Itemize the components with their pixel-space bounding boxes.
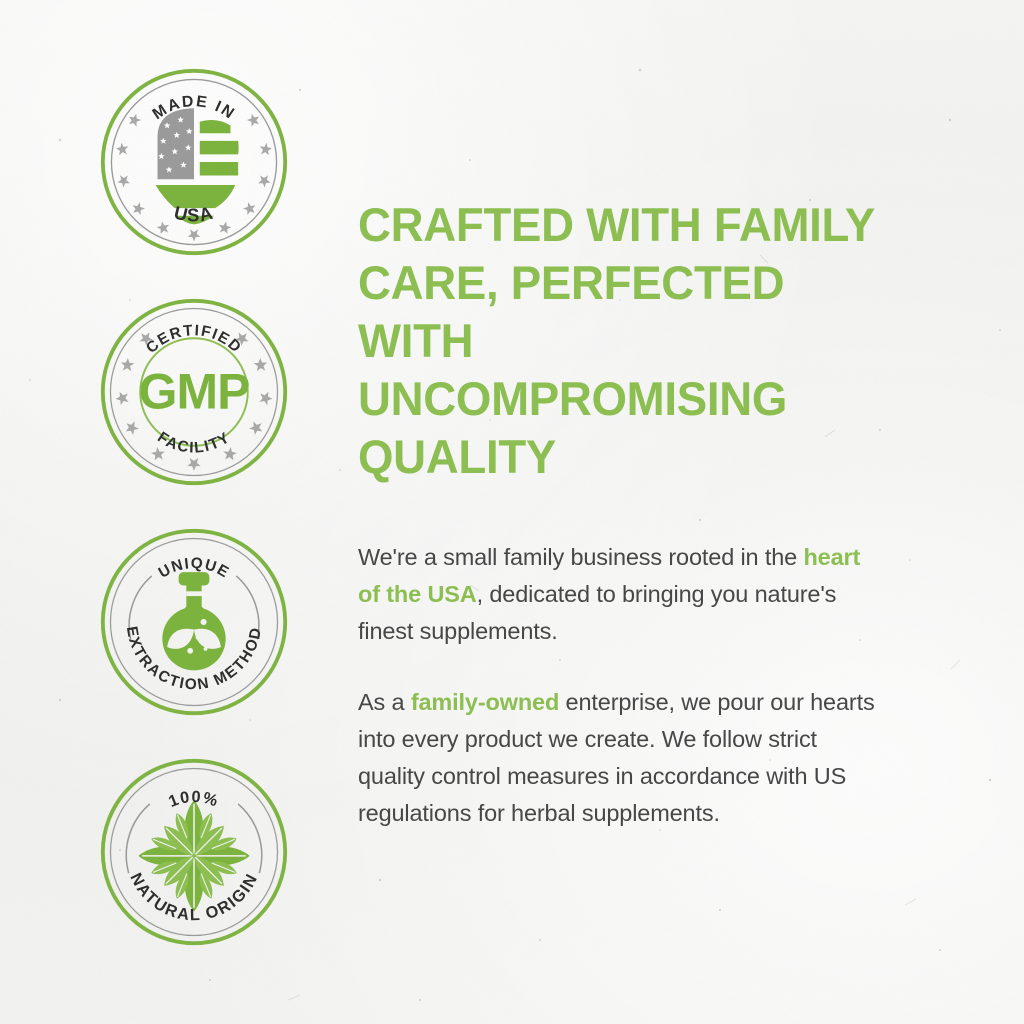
paragraph-text: We're a small family business rooted in … [358, 544, 803, 570]
gmp-icon: GMP CERTIFIED FACILITY [98, 296, 290, 488]
badge-natural-origin: 100% NATURAL ORIGIN [98, 756, 290, 948]
svg-text:FACILITY: FACILITY [154, 429, 233, 457]
badge-bottom-text: FACILITY [154, 429, 233, 457]
body-paragraph: As a family-owned enterprise, we pour ou… [358, 684, 878, 832]
content-column: CRAFTED WITH FAMILY CARE, PERFECTED WITH… [358, 196, 918, 832]
flask-glyph [162, 572, 225, 670]
badge-bottom-text: USA [172, 202, 216, 226]
page-title: CRAFTED WITH FAMILY CARE, PERFECTED WITH… [358, 196, 901, 486]
badge-top-text: CERTIFIED [143, 322, 245, 357]
highlighted-phrase: family-owned [411, 689, 559, 715]
gmp-center-text: GMP [139, 363, 250, 419]
trust-badge-column: MADE IN USA [98, 66, 294, 986]
body-copy: We're a small family business rooted in … [358, 539, 918, 832]
usa-flag-icon: MADE IN USA [98, 66, 290, 258]
svg-text:USA: USA [172, 202, 216, 226]
leaf-rosette-icon: 100% NATURAL ORIGIN [98, 756, 290, 948]
body-paragraph: We're a small family business rooted in … [358, 539, 878, 650]
badge-top-text: MADE IN [150, 93, 239, 123]
badge-unique-extraction-method: UNIQUE EXTRACTION METHOD [98, 526, 290, 718]
promo-graphic: MADE IN USA [0, 0, 1024, 1024]
badge-gmp-certified-facility: GMP CERTIFIED FACILITY [98, 296, 290, 488]
badge-made-in-usa: MADE IN USA [98, 66, 290, 258]
svg-text:CERTIFIED: CERTIFIED [143, 322, 245, 357]
paragraph-text: As a [358, 689, 411, 715]
svg-text:MADE IN: MADE IN [150, 93, 239, 123]
flask-leaf-icon: UNIQUE EXTRACTION METHOD [98, 526, 290, 718]
